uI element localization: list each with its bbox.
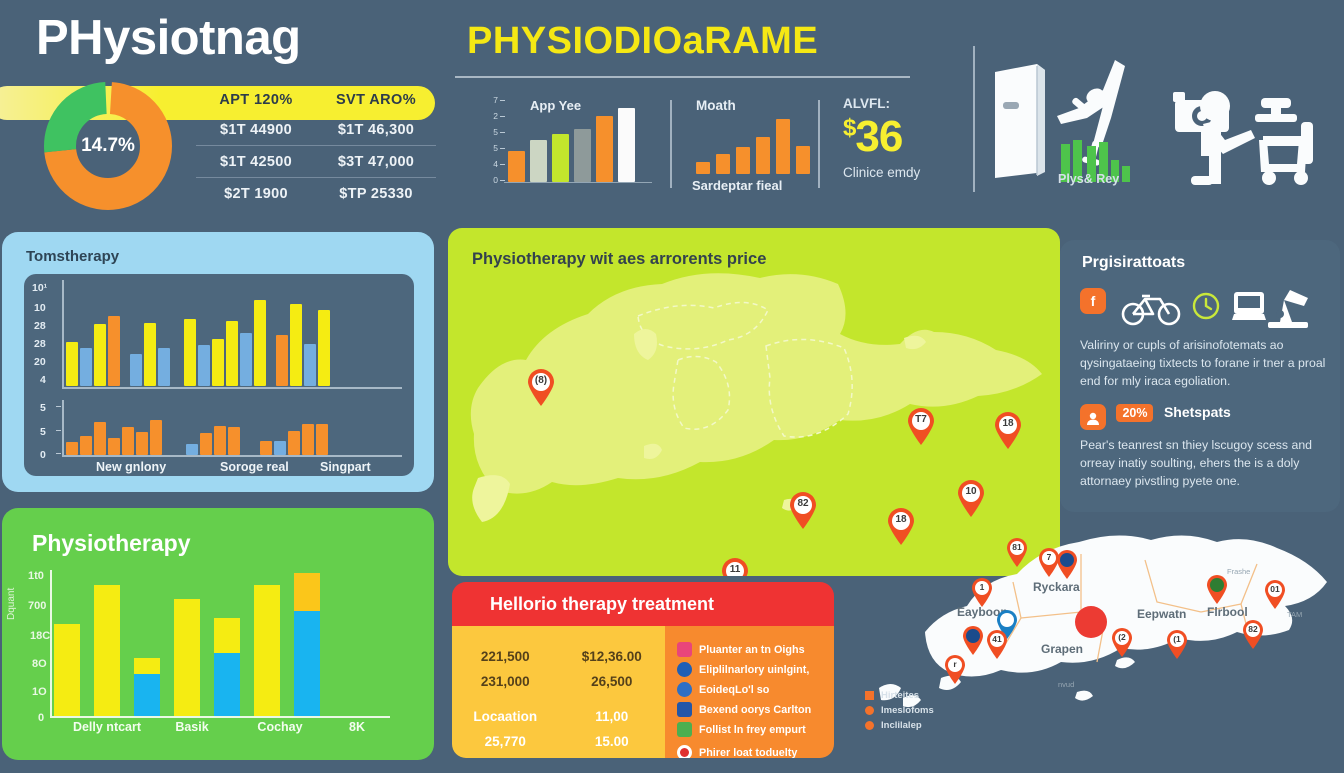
y-tick: 7 [493,96,498,105]
map-landmass [471,273,1042,493]
map-island [1075,691,1093,701]
badge-icon: f [1080,288,1106,314]
top-y-axis [62,280,64,388]
map-pin[interactable]: T7 [906,408,936,446]
left-top-chart-card: Tomstherapy 10¹ 10 28 28 20 4 [2,232,434,492]
list-item-label: Bexend oorys Carlton [699,704,811,716]
bar [228,427,240,455]
bar [316,424,328,455]
list-item-label: Pluanter an tn Oighs [699,644,805,656]
bar [198,345,210,386]
bar [108,316,120,386]
info-block-2-text: Pear's teanrest sn thiey lscugoy scess a… [1080,437,1326,490]
map-pin[interactable]: 41 [985,630,1009,660]
list-bullet-icon [677,745,692,758]
legend-label: Imeslofoms [881,705,934,716]
top-x-axis [62,387,402,389]
green-y-axis [50,570,52,718]
map-pin[interactable]: 82 [788,492,818,530]
y-tick: 0 [493,176,498,185]
bar [508,151,525,182]
list-item: Phirer loat toduelty [677,745,834,758]
y-tick: 18C [30,630,50,642]
bar [574,129,591,182]
info-block-1-text: Valiriny or cupls of arisinofotemats ao … [1080,337,1326,390]
mini-chart-2-subcaption: Sardeptar fieal [692,178,782,193]
bar [254,300,266,386]
map-pin-label: 41 [985,633,1009,646]
kpi-subtext: Clinice emdy [843,165,973,180]
map-pin[interactable]: 18 [993,412,1023,450]
y-tick: 5 [493,144,498,153]
list-item-label: Follist ln frey empurt [699,724,806,736]
list-item: Follist ln frey empurt [677,722,834,737]
map-pin-label: 01 [1263,583,1287,596]
therapist-patient-icon [1173,91,1255,185]
bar [618,108,635,182]
left-top-upper-bars [66,286,330,386]
map-pin[interactable]: 81 [1005,538,1029,568]
bar-stack [94,568,120,716]
legend-item: Hirteites [865,690,934,701]
legend-label: Hirteites [881,690,919,701]
bar [226,321,238,386]
map-pin[interactable]: 01 [1263,580,1287,610]
list-item-label: Phirer loat toduelty [699,747,797,759]
right-info-panel: Prgisirattoats f [1060,240,1340,512]
list-item: Eliplilnarlory uinlgint, [677,662,834,677]
stats-cell: $1T 44900 [196,114,316,146]
bar-segment-amber [294,573,320,611]
bottom-card-title: Hellorio therapy treatment [452,582,834,626]
stats-col-1: SVT ARO% [316,88,436,114]
person-icon [1080,404,1106,430]
map-pin-label: 82 [788,496,818,512]
bar [200,433,212,455]
y-tick: 20 [34,356,46,368]
cabinet-icon [995,64,1045,178]
bottom-y-axis [62,400,64,456]
map-island [1115,657,1135,668]
bar-segment-blue [294,611,320,716]
y-tick: 28 [34,320,46,332]
page-title-main: PHYSIODIOaRAME [467,20,818,63]
bar [94,324,106,386]
map-city-label: Eepwatn [1137,607,1186,621]
map-pin-label: (8) [526,373,556,389]
info-block-1: f [1080,288,1326,390]
bar-segment-yellow [54,624,80,716]
y-tick: 2 [493,112,498,121]
bar [304,344,316,386]
list-bullet-icon [677,662,692,677]
bar [290,304,302,386]
bar [108,438,120,455]
header-stats-table: APT 120% SVT ARO% $1T 44900 $1T 46,300 $… [196,88,436,209]
bar [716,154,730,174]
y-tick: 28 [34,338,46,350]
map-city-label: Ryckara [1033,580,1080,594]
list-item: Bexend oorys Carlton [677,702,834,717]
center-map-title: Physiotherapy wit aes arrorents price [472,250,766,269]
map-pin-label: (1 [1165,633,1189,646]
y-tick: 5 [40,426,46,438]
infographic-root: PHysiotnag PHYSIODIOaRAME 14.7% APT 120%… [0,0,1344,768]
stats-header-row: APT 120% SVT ARO% [196,88,436,114]
bar [212,339,224,386]
kpi-currency: $ [843,114,855,141]
map-pin[interactable]: (1 [1165,630,1189,660]
bar [530,140,547,182]
bar [276,335,288,386]
info-block-2-heading: Shetspats [1164,404,1231,420]
table-row: Locaation 11,00 [452,704,665,729]
map-pin[interactable]: 10 [956,480,986,518]
stats-cell: $2T 1900 [196,178,316,209]
bottom-right-map: Ryckara Eayboon Grapen Eepwatn Flrbool F… [845,520,1344,768]
list-bullet-icon [677,722,692,737]
y-tick: 4 [40,374,46,386]
left-bottom-card-title: Physiotherapy [32,530,191,557]
bar-stack [174,568,200,716]
table-cell: Locaation [452,704,559,729]
legend-swatch [865,721,874,730]
bar [796,146,810,174]
mini-chart-1-bars [508,106,635,182]
map-pin-label: (2 [1110,631,1134,644]
map-pin[interactable] [961,626,985,656]
x-category: Singpart [320,460,371,474]
stats-cell: $1T 42500 [196,146,316,178]
bar [776,119,790,174]
bar [260,441,272,455]
bar-segment-yellow [94,585,120,716]
map-highlight-dot [1075,606,1107,638]
bar [66,342,78,386]
bar-stack [294,568,320,716]
y-tick: 5 [493,128,498,137]
map-pin[interactable]: 1 [970,578,994,608]
table-cell: 25,770 [452,729,559,754]
stats-col-0: APT 120% [196,88,316,114]
legend-swatch [865,691,874,700]
bar-stack [134,568,160,716]
left-bottom-yaxis-title: Dquant [6,588,17,620]
map-pin[interactable]: (2 [1110,628,1134,658]
bottom-treatment-card: Hellorio therapy treatment 221,500 $12,3… [452,582,834,758]
treatment-cart-icon [1255,98,1313,185]
map-minor-label: TAM [1287,610,1302,619]
bar [158,348,170,386]
mini-chart-1-yaxis: 7 2 5 5 4 0 [478,96,500,182]
table-row: 231,000 26,500 [452,669,665,694]
map-pin[interactable]: 11 [720,558,750,576]
map-pin-label: 82 [1241,623,1265,636]
mini-chart-app-yee: App Yee 7 2 5 5 4 0 [478,96,653,194]
y-tick: 5 [40,402,46,414]
stats-cell: $TP 25330 [316,178,436,209]
x-category: Soroge real [220,460,289,474]
bar [288,431,300,455]
map-pin[interactable] [1055,550,1079,580]
bar-segment-blue [134,674,160,716]
header-icons-caption: Plys& Rey [1058,172,1119,186]
bottom-card-body: 221,500 $12,36.00 231,000 26,500 Locaati… [452,626,834,758]
table-cell: 231,000 [452,669,559,694]
x-category: 8K [327,720,387,734]
stats-row: $1T 44900 $1T 46,300 [196,114,436,146]
y-tick: 0 [40,449,46,461]
bar-stack [54,568,80,716]
bar [150,420,162,455]
bar [122,427,134,455]
stats-cell: $1T 46,300 [316,114,436,146]
bar [186,444,198,455]
donut-center-label: 14.7% [44,82,172,210]
bottom-card-table: 221,500 $12,36.00 231,000 26,500 Locaati… [452,626,665,758]
legend-item: Inclilalep [865,720,934,731]
bar [596,116,613,182]
map-pin-label: 11 [720,562,750,576]
kpi-label: ALVFL: [843,96,973,111]
header-section: PHysiotnag PHYSIODIOaRAME 14.7% APT 120%… [0,0,1344,222]
bar-segment-yellow [214,618,240,653]
map-pin-label: 81 [1005,541,1029,554]
left-bottom-chart-card: Physiotherapy 1t0 700 18C 8O 1O 0 [2,508,434,760]
legend-label: Inclilalep [881,720,922,731]
list-item-label: EoideqLo'l so [699,684,769,696]
header-icon-group [975,44,1335,194]
y-tick: 4 [493,160,498,169]
map-pin[interactable] [1205,575,1229,605]
mini-chart-2-caption: Moath [696,98,736,113]
bar [274,441,286,455]
bar [66,442,78,455]
map-pin-label: 18 [993,416,1023,432]
table-cell: 26,500 [559,669,666,694]
y-tick: 8O [32,658,47,670]
list-bullet-icon [677,642,692,657]
map-pin[interactable]: r [943,655,967,685]
mini-chart-2-bars [696,118,810,174]
info-block-2: 20% Shetspats Pear's teanrest sn thiey l… [1080,404,1326,490]
bar-segment-blue [214,653,240,716]
stats-cell: $3T 47,000 [316,146,436,178]
treatment-machine-icon [1232,288,1318,334]
bottom-x-axis [62,455,402,457]
left-top-lower-bars [66,405,328,455]
stats-row: $1T 42500 $3T 47,000 [196,146,436,178]
header-divider-2 [818,100,820,188]
bar [136,432,148,455]
stats-row: $2T 1900 $TP 25330 [196,178,436,209]
kpi-block: ALVFL: $36 Clinice emdy [843,96,973,180]
donut-chart: 14.7% [44,82,172,210]
bar [318,310,330,386]
table-row: 221,500 $12,36.00 [452,644,665,669]
y-tick: 10¹ [32,282,47,294]
bar [130,354,142,386]
table-cell: 11,00 [559,704,666,729]
map-pin[interactable]: (8) [526,369,556,407]
map-pin-label: 10 [956,484,986,500]
y-tick: 1t0 [28,570,44,582]
table-cell: 221,500 [452,644,559,669]
header-icons-svg [975,44,1335,194]
bottom-card-list: Pluanter an tn Oighs Eliplilnarlory uinl… [665,626,834,758]
header-divider-1 [670,100,672,188]
list-bullet-icon [677,702,692,717]
clock-icon [1192,292,1220,320]
list-bullet-icon [677,682,692,697]
map-pin[interactable]: 82 [1241,620,1265,650]
bar [240,333,252,386]
map-minor-label: Frashe [1227,567,1250,576]
table-cell: $12,36.00 [559,644,666,669]
bar [94,422,106,455]
list-item: Pluanter an tn Oighs [677,642,834,657]
y-tick: 10 [34,302,46,314]
list-item: EoideqLo'l so [677,682,834,697]
list-item-label: Eliplilnarlory uinlgint, [699,664,809,676]
table-row: 25,770 15.00 [452,729,665,754]
map-pin-label: r [943,658,967,671]
page-title-left: PHysiotnag [36,10,301,66]
bar [214,426,226,455]
right-panel-body: f [1080,288,1326,505]
x-category: Basik [152,720,232,734]
y-tick: 700 [28,600,46,612]
percentage-chip: 20% [1116,404,1153,422]
map-pin-label: T7 [906,412,936,428]
bar [302,424,314,455]
right-panel-title: Prgisirattoats [1082,254,1185,272]
map-city-label: Grapen [1041,642,1083,656]
bar [552,134,569,182]
legend-swatch [865,706,874,715]
map-minor-label: nvud [1058,680,1074,689]
bottom-map-legend: Hirteites Imeslofoms Inclilalep [865,690,934,735]
map-city-label: Flrbool [1207,605,1248,619]
mini-chart-moath: Moath Sardeptar fieal [692,96,812,196]
bar [756,137,770,174]
bar-stack [214,568,240,716]
x-category: Cochay [240,720,320,734]
bar [80,436,92,455]
left-top-card-title: Tomstherapy [26,248,119,265]
kpi-value: $36 [843,115,973,159]
legend-item: Imeslofoms [865,705,934,716]
left-top-plot-area: 10¹ 10 28 28 20 4 [24,274,414,476]
bar [696,162,710,174]
y-tick: 1O [32,686,47,698]
map-pin-label: 1 [970,581,994,594]
bar [736,147,750,174]
map-island [472,475,510,522]
bar-stack [254,568,280,716]
bar-segment-yellow [254,585,280,716]
title-underline [455,76,910,78]
x-category: New gnlony [96,460,166,474]
bar-segment-yellow [174,599,200,716]
kpi-number: 36 [855,112,902,161]
green-x-axis [50,716,390,718]
bicycle-icon [1120,290,1182,326]
left-bottom-bars [54,568,320,716]
bar [80,348,92,386]
bar [184,319,196,386]
bar-segment-yellow [134,658,160,674]
bar [144,323,156,386]
table-cell: 15.00 [559,729,666,754]
